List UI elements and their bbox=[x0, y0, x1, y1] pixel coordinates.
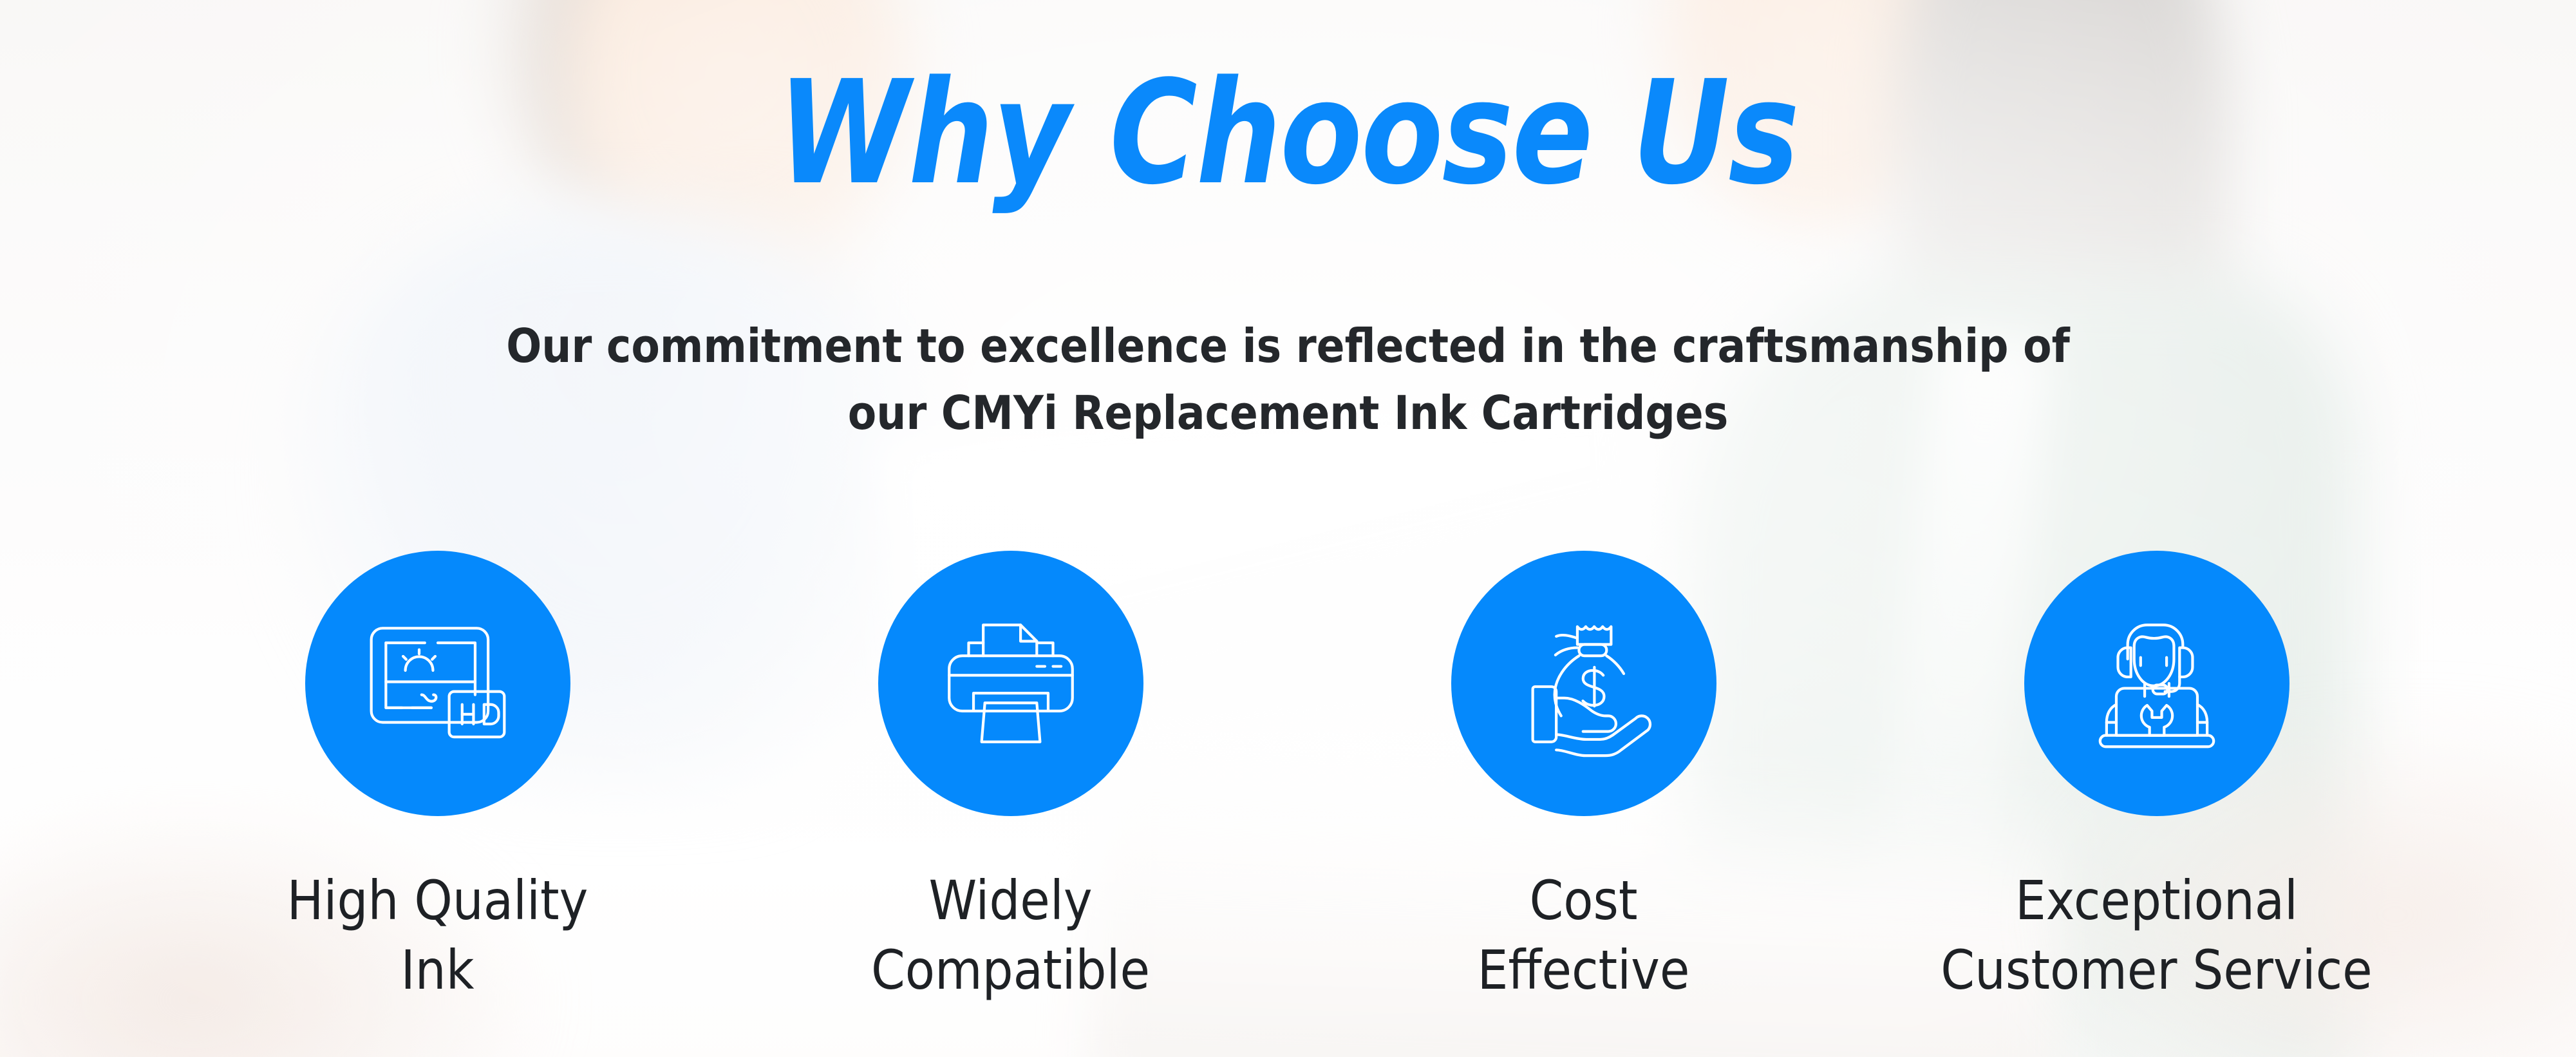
feature-label-line-1: High Quality bbox=[287, 866, 588, 936]
feature-label-line-2: Effective bbox=[1478, 936, 1690, 1005]
hd-image-icon bbox=[357, 602, 519, 765]
feature-label-line-1: Exceptional bbox=[1941, 866, 2372, 936]
feature-icon-badge bbox=[2024, 551, 2289, 816]
hero-subtitle-line-2: our CMYi Replacement Ink Cartridges bbox=[355, 379, 2222, 446]
feature-item-widely-compatible: Widely Compatible bbox=[774, 551, 1247, 1005]
hero-section: Why Choose Us Our commitment to excellen… bbox=[0, 0, 2576, 1057]
feature-label-line-2: Ink bbox=[287, 936, 588, 1005]
feature-label-line-1: Cost bbox=[1478, 866, 1690, 936]
printer-icon bbox=[930, 602, 1092, 765]
money-bag-in-hand-icon bbox=[1503, 602, 1665, 765]
feature-label-line-1: Widely bbox=[871, 866, 1150, 936]
page-title: Why Choose Us bbox=[90, 62, 2486, 205]
feature-icon-badge bbox=[1451, 551, 1716, 816]
feature-label-line-2: Customer Service bbox=[1941, 936, 2372, 1005]
feature-list: High Quality Ink bbox=[0, 551, 2576, 1005]
feature-item-customer-service: Exceptional Customer Service bbox=[1920, 551, 2393, 1005]
hero-subtitle-line-1: Our commitment to excellence is reflecte… bbox=[355, 312, 2222, 379]
feature-label-line-2: Compatible bbox=[871, 936, 1150, 1005]
support-agent-headset-icon bbox=[2076, 602, 2238, 765]
feature-icon-badge bbox=[305, 551, 570, 816]
feature-label: Exceptional Customer Service bbox=[1941, 866, 2372, 1005]
feature-item-cost-effective: Cost Effective bbox=[1347, 551, 1820, 1005]
feature-label: Widely Compatible bbox=[871, 866, 1150, 1005]
feature-icon-badge bbox=[878, 551, 1143, 816]
feature-label: High Quality Ink bbox=[287, 866, 588, 1005]
feature-item-high-quality-ink: High Quality Ink bbox=[201, 551, 674, 1005]
feature-label: Cost Effective bbox=[1478, 866, 1690, 1005]
hero-subtitle: Our commitment to excellence is reflecte… bbox=[355, 312, 2222, 447]
